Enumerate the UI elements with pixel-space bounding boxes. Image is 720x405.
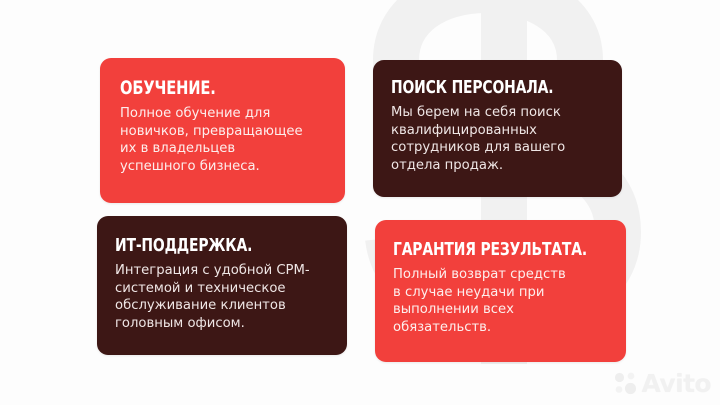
card-body-recruiting: Мы берем на себя поиск квалифицированных… <box>391 104 606 174</box>
feature-card-guarantee[interactable]: ГАРАНТИЯ РЕЗУЛЬТАТА. Полный возврат сред… <box>375 220 626 362</box>
card-title-training: ОБУЧЕНИЕ. <box>120 79 298 98</box>
avito-dots-logo-icon <box>613 371 638 396</box>
feature-card-it-support[interactable]: ИТ-ПОДДЕРЖКА. Интеграция с удобной CPM- … <box>97 216 347 355</box>
card-body-guarantee: Полный возврат средств в случае неудачи … <box>393 266 612 336</box>
avito-wordmark: Avito <box>642 371 711 396</box>
card-body-training: Полное обучение для новичков, превращающ… <box>120 105 327 175</box>
card-title-recruiting: ПОИСК ПЕРСОНАЛА. <box>391 79 576 97</box>
card-title-guarantee: ГАРАНТИЯ РЕЗУЛЬТАТА. <box>393 241 581 259</box>
feature-card-recruiting[interactable]: ПОИСК ПЕРСОНАЛА. Мы берем на себя поиск … <box>373 60 622 197</box>
avito-watermark: Avito <box>613 371 711 396</box>
slide-canvas: ОБУЧЕНИЕ. Полное обучение для новичков, … <box>0 0 720 405</box>
feature-card-training[interactable]: ОБУЧЕНИЕ. Полное обучение для новичков, … <box>100 58 345 203</box>
card-body-it-support: Интеграция с удобной CPM- системой и тех… <box>115 262 335 332</box>
card-title-it-support: ИТ-ПОДДЕРЖКА. <box>115 237 304 255</box>
